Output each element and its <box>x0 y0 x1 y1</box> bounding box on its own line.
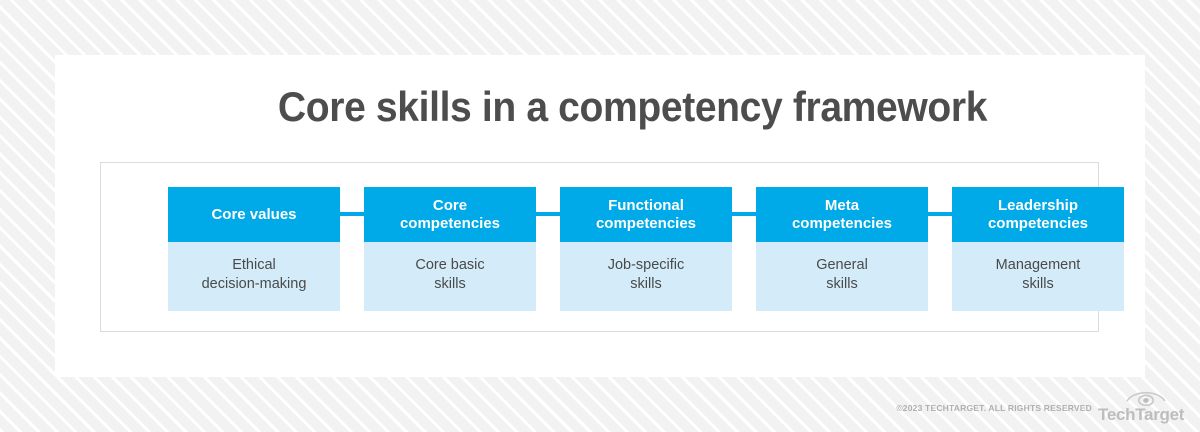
competency-box-header: Leadership competencies <box>952 187 1124 242</box>
competency-box-body: General skills <box>756 242 928 311</box>
competency-box-body: Management skills <box>952 242 1124 311</box>
competency-box: Core values Ethical decision-making <box>168 187 340 311</box>
techtarget-logo: TechTarget <box>1098 388 1190 430</box>
competency-box-row: Core values Ethical decision-making Core… <box>168 187 1124 311</box>
competency-box-header-line: competencies <box>596 215 696 233</box>
competency-box: Functional competencies Job-specific ski… <box>560 187 732 311</box>
competency-box-body-line: skills <box>762 275 922 294</box>
competency-box-body-line: General <box>762 256 922 275</box>
competency-box-header-line: competencies <box>792 215 892 233</box>
competency-box: Meta competencies General skills <box>756 187 928 311</box>
competency-box-header-line: Leadership <box>988 197 1088 215</box>
competency-box-header: Core values <box>168 187 340 242</box>
competency-box-header-line: Core <box>400 197 500 215</box>
competency-box-header: Meta competencies <box>756 187 928 242</box>
footer: ©2023 TECHTARGET. ALL RIGHTS RESERVED Te… <box>0 396 1200 432</box>
competency-box: Core competencies Core basic skills <box>364 187 536 311</box>
competency-box-body-line: Ethical <box>174 256 334 275</box>
competency-box-body-line: Management <box>958 256 1118 275</box>
competency-box-header-line: Functional <box>596 197 696 215</box>
competency-box-body-line: skills <box>566 275 726 294</box>
competency-box-header-line: Core values <box>211 206 296 224</box>
competency-box-header: Core competencies <box>364 187 536 242</box>
competency-box-body-line: Core basic <box>370 256 530 275</box>
page-background: Core skills in a competency framework Co… <box>0 0 1200 432</box>
logo-wordmark: TechTarget <box>1098 405 1184 425</box>
competency-box-header-line: competencies <box>400 215 500 233</box>
competency-box-body: Core basic skills <box>364 242 536 311</box>
competency-box-body: Job-specific skills <box>560 242 732 311</box>
content-card: Core skills in a competency framework Co… <box>55 55 1145 377</box>
diagram-panel: Core values Ethical decision-making Core… <box>100 162 1099 332</box>
competency-box-header-line: competencies <box>988 215 1088 233</box>
copyright-text: ©2023 TECHTARGET. ALL RIGHTS RESERVED <box>896 403 1092 413</box>
competency-box-body: Ethical decision-making <box>168 242 340 311</box>
competency-box-header-line: Meta <box>792 197 892 215</box>
competency-box-body-line: Job-specific <box>566 256 726 275</box>
competency-box-header: Functional competencies <box>560 187 732 242</box>
page-title: Core skills in a competency framework <box>198 83 1068 131</box>
competency-box-body-line: skills <box>370 275 530 294</box>
competency-box: Leadership competencies Management skill… <box>952 187 1124 311</box>
competency-box-body-line: decision-making <box>174 275 334 294</box>
competency-box-body-line: skills <box>958 275 1118 294</box>
